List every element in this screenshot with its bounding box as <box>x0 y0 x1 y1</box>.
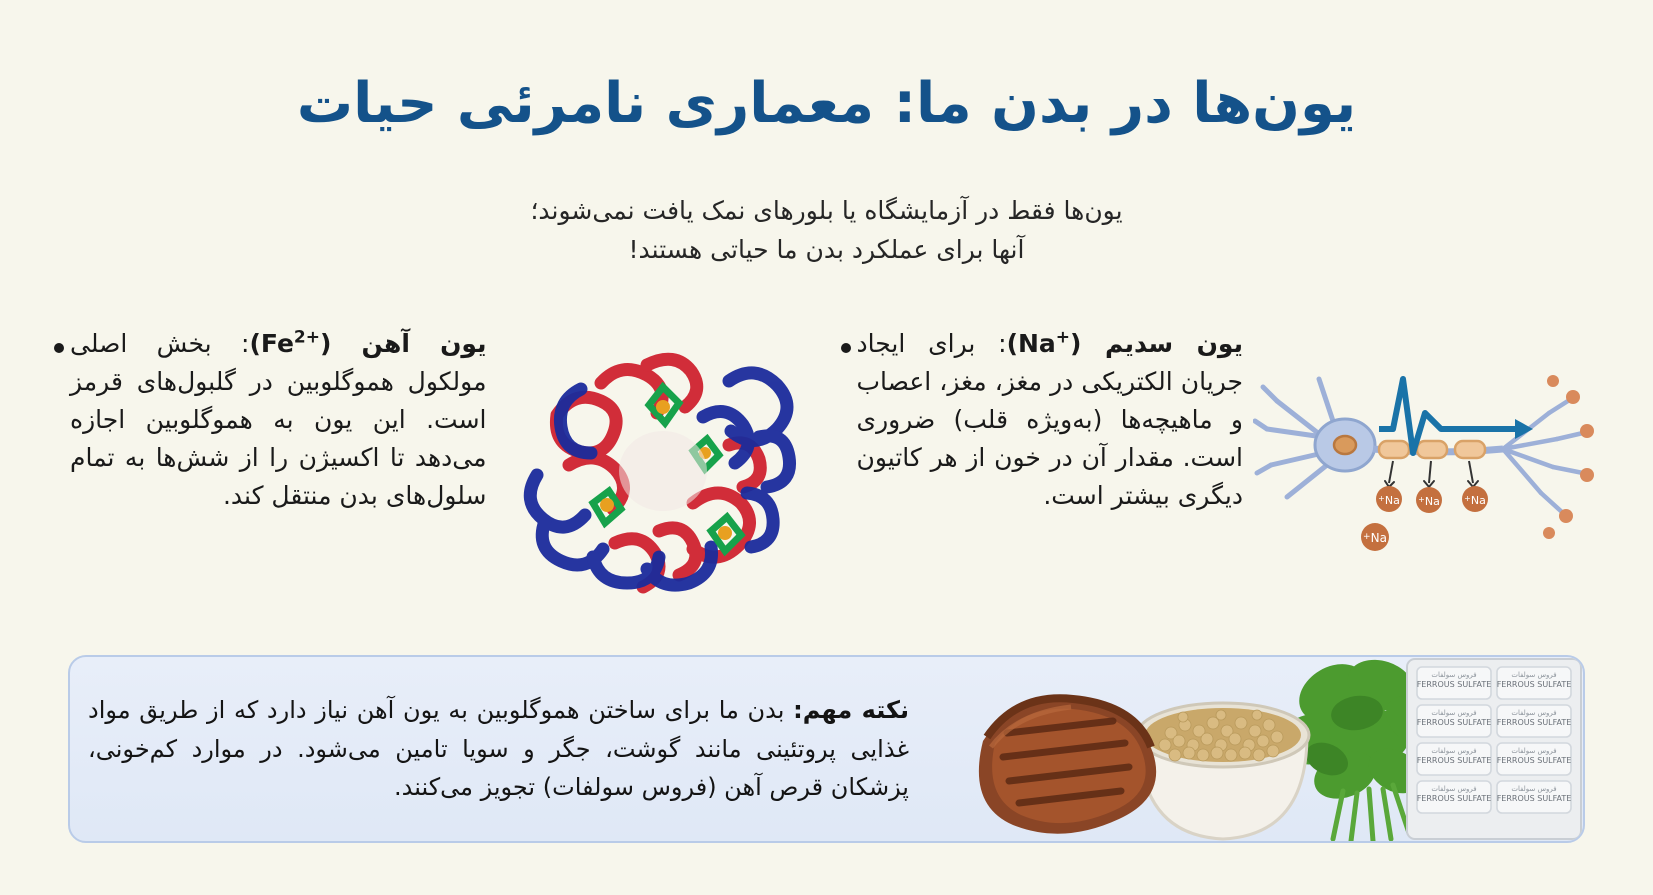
note-body: بدن ما برای ساختن هموگلوبین به یون آهن ن… <box>88 696 909 802</box>
page-subtitle: یون‌ها فقط در آزمایشگاه یا بلورهای نمک ی… <box>0 192 1653 270</box>
svg-text:FERROUS SULFATE: FERROUS SULFATE <box>1417 680 1492 689</box>
note-images: FERROUS SULFATEFERROUS SULFATE FERROUS S… <box>943 655 1583 843</box>
bullet-text-iron: یون آهن (Fe2+): بخش اصلی مولکول هموگلوبی… <box>70 325 487 515</box>
svg-text:فروس سولفات: فروس سولفات <box>1511 785 1556 793</box>
bullet-columns: یون آهن (Fe2+): بخش اصلی مولکول هموگلوبی… <box>40 325 1613 625</box>
neuron-action-potential-image: Na+ Na+ Na+ Na+ <box>1253 357 1613 567</box>
svg-text:فروس سولفات: فروس سولفات <box>1431 709 1476 717</box>
important-note-box: نکته مهم: بدن ما برای ساختن هموگلوبین به… <box>68 655 1585 843</box>
note-text: نکته مهم: بدن ما برای ساختن هموگلوبین به… <box>70 691 943 808</box>
ferrous-sulfate-blister-pack-image: FERROUS SULFATEFERROUS SULFATE FERROUS S… <box>1399 655 1585 841</box>
svg-text:فروس سولفات: فروس سولفات <box>1431 747 1476 755</box>
bullet-lead-iron: یون آهن <box>362 329 487 358</box>
bullet-lead-sodium: یون سدیم <box>1105 329 1243 358</box>
formula-sodium: Na+ <box>1018 329 1070 358</box>
svg-text:فروس سولفات: فروس سولفات <box>1431 671 1476 679</box>
svg-text:FERROUS SULFATE: FERROUS SULFATE <box>1497 680 1572 689</box>
svg-text:فروس سولفات: فروس سولفات <box>1511 671 1556 679</box>
formula-iron: Fe2+ <box>261 329 320 358</box>
bullet-block-iron: یون آهن (Fe2+): بخش اصلی مولکول هموگلوبی… <box>40 325 827 615</box>
note-lead: نکته مهم: <box>793 696 909 724</box>
bullet-dot-icon <box>54 343 64 353</box>
svg-text:FERROUS SULFATE: FERROUS SULFATE <box>1497 794 1572 803</box>
subtitle-line-1: یون‌ها فقط در آزمایشگاه یا بلورهای نمک ی… <box>0 192 1653 231</box>
svg-text:فروس سولفات: فروس سولفات <box>1511 747 1556 755</box>
svg-text:فروس سولفات: فروس سولفات <box>1511 709 1556 717</box>
svg-text:FERROUS SULFATE: FERROUS SULFATE <box>1497 718 1572 727</box>
svg-text:FERROUS SULFATE: FERROUS SULFATE <box>1497 756 1572 765</box>
svg-text:FERROUS SULFATE: FERROUS SULFATE <box>1417 794 1492 803</box>
bullet-block-sodium: یون سدیم (Na+): برای ایجاد جریان الکتریک… <box>827 325 1614 567</box>
svg-text:FERROUS SULFATE: FERROUS SULFATE <box>1417 756 1492 765</box>
bullet-text-sodium: یون سدیم (Na+): برای ایجاد جریان الکتریک… <box>857 325 1244 515</box>
subtitle-line-2: آنها برای عملکرد بدن ما حیاتی هستند! <box>0 231 1653 270</box>
bullet-dot-icon <box>841 343 851 353</box>
infographic-slide: یون‌ها در بدن ما: معماری نامرئی حیات یون… <box>0 0 1653 895</box>
svg-text:FERROUS SULFATE: FERROUS SULFATE <box>1417 718 1492 727</box>
svg-text:فروس سولفات: فروس سولفات <box>1431 785 1476 793</box>
hemoglobin-molecule-image <box>497 325 827 615</box>
page-title: یون‌ها در بدن ما: معماری نامرئی حیات <box>0 72 1653 136</box>
grilled-steak-image <box>963 677 1173 843</box>
